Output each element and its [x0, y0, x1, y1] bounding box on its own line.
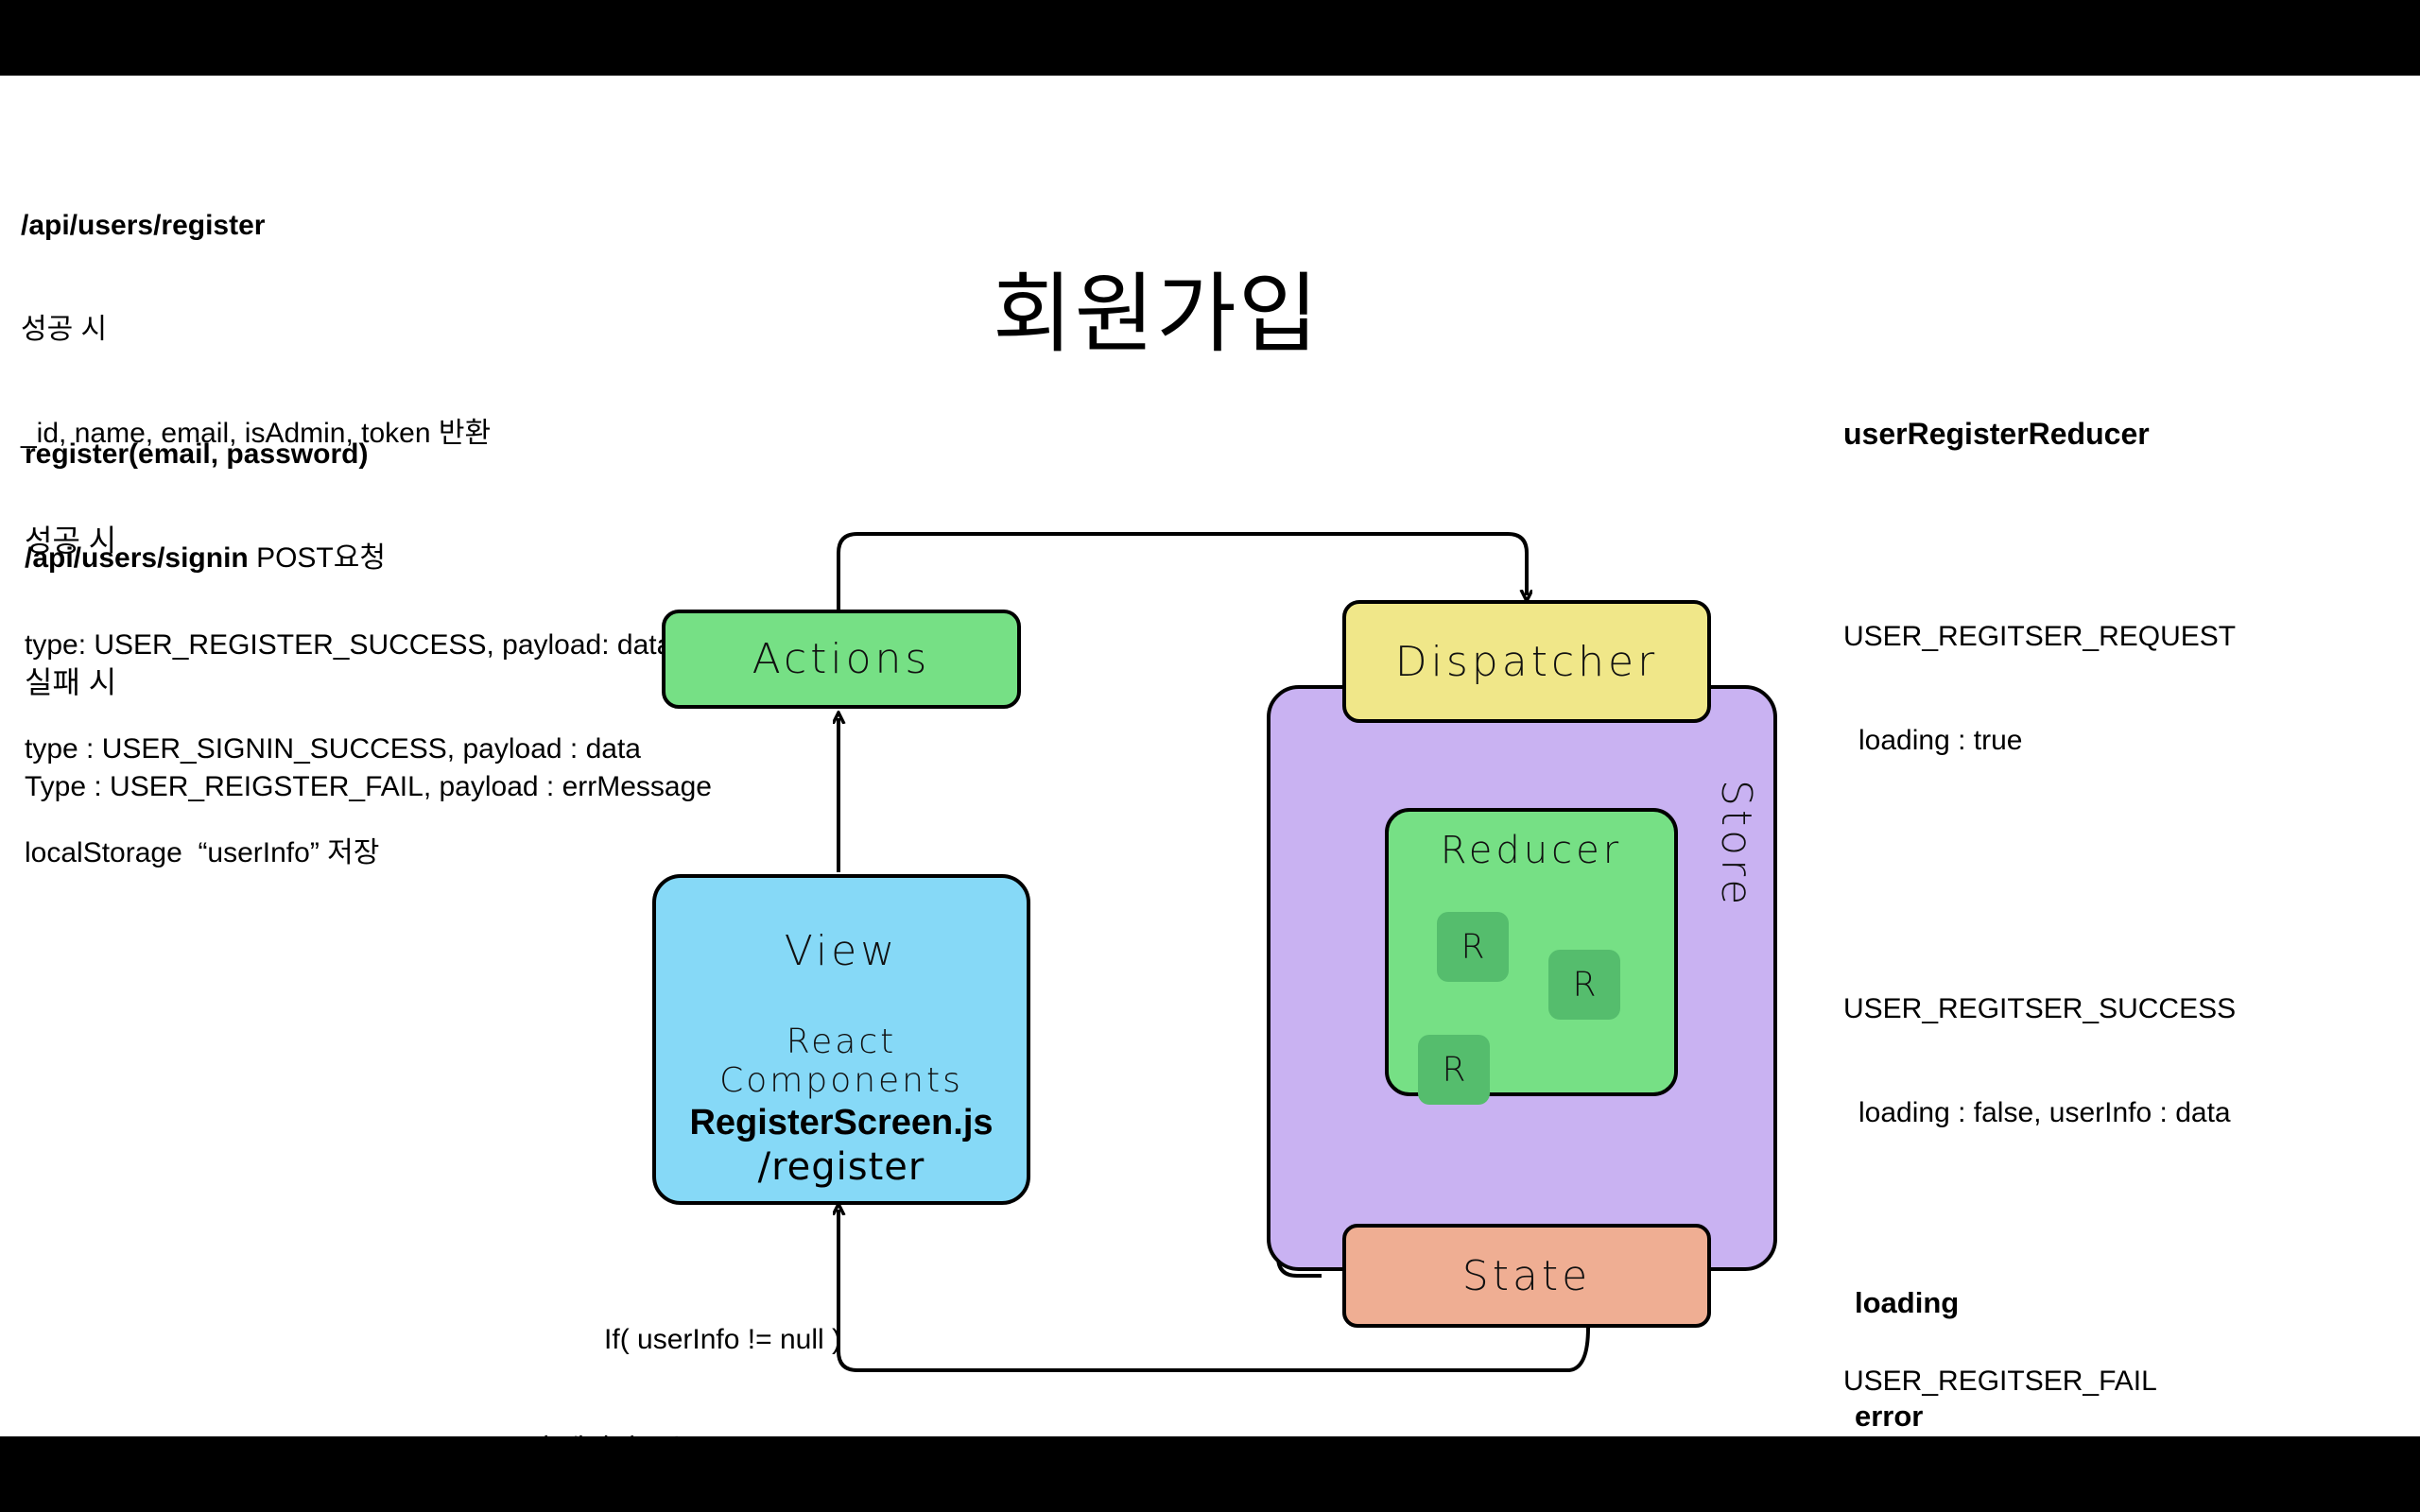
view-subtitle: React Components — [719, 1022, 963, 1101]
state-keys-list: loading error userInfo — [1855, 1208, 1970, 1436]
view-node: View React Components RegisterScreen.js … — [652, 874, 1030, 1205]
reducer-case-success-type: USER_REGITSER_SUCCESS — [1843, 992, 2269, 1027]
reducer-sub-box-2: R — [1548, 950, 1620, 1020]
letterbox-bottom — [0, 1436, 2420, 1512]
note-fail-line1: Type : USER_REIGSTER_FAIL, payload : err… — [25, 770, 712, 805]
letterbox-top — [0, 0, 2420, 76]
slide-canvas: 회원가입 /api/users/register 성공 시 _id, name,… — [0, 0, 2420, 1512]
reducer-case-success-state: loading : false, userInfo : data — [1843, 1096, 2269, 1131]
state-node: State — [1342, 1224, 1711, 1328]
reducer-panel-title: userRegisterReducer — [1843, 416, 2150, 453]
state-label: State — [1462, 1252, 1591, 1300]
view-route: /register — [758, 1145, 925, 1189]
view-subtitle-line1: React — [719, 1022, 963, 1061]
note-success-heading: 성공 시 — [25, 523, 672, 559]
dispatcher-label: Dispatcher — [1395, 638, 1658, 686]
state-key-loading: loading — [1855, 1284, 1970, 1322]
page-title: 회원가입 — [993, 244, 1321, 369]
reducer-sub-box-1: R — [1437, 912, 1509, 982]
note-fail: 실패 시 Type : USER_REIGSTER_FAIL, payload … — [25, 595, 712, 874]
state-key-error: error — [1855, 1398, 1970, 1435]
actions-label: Actions — [752, 635, 931, 683]
reducer-sub-box-3: R — [1418, 1035, 1490, 1105]
note-bottom-conditions: If( userInfo != null ) 전 페이지 또는 /로 redir… — [0, 1247, 841, 1436]
store-label: Store — [1712, 780, 1760, 908]
view-label: View — [785, 927, 898, 975]
note-fail-heading: 실패 시 — [25, 664, 712, 701]
note-bottom-line1: If( userInfo != null ) — [0, 1321, 841, 1358]
note-api-line2: 성공 시 — [21, 313, 491, 348]
actions-node: Actions — [662, 610, 1021, 709]
reducer-case-request-type: USER_REGITSER_REQUEST — [1843, 620, 2269, 655]
note-api-line1: /api/users/register — [21, 209, 491, 244]
view-filename: RegisterScreen.js — [689, 1103, 993, 1143]
dispatcher-node: Dispatcher — [1342, 600, 1711, 723]
reducer-label: Reducer — [1441, 829, 1622, 872]
view-subtitle-line2: Components — [719, 1061, 963, 1100]
reducer-case-request-state: loading : true — [1843, 724, 2269, 759]
reducer-case-request: USER_REGITSER_REQUEST loading : true — [1843, 551, 2269, 828]
presentation-slide: 회원가입 /api/users/register 성공 시 _id, name,… — [0, 76, 2420, 1436]
reducer-case-success: USER_REGITSER_SUCCESS loading : false, u… — [1843, 923, 2269, 1200]
